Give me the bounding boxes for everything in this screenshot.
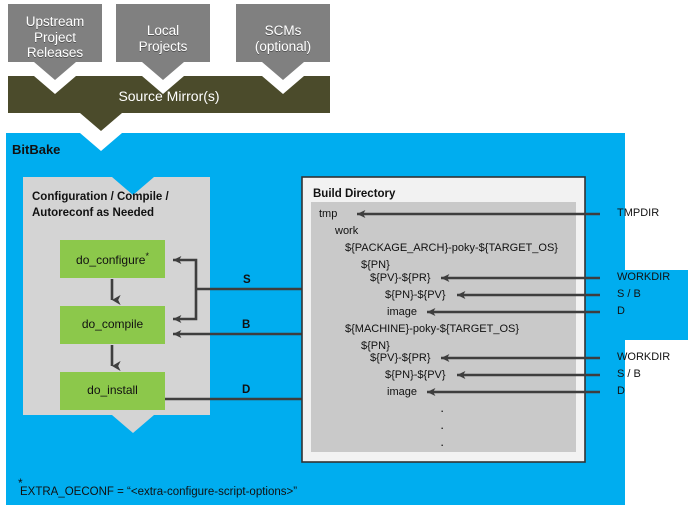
footnote-marker-do-configure: *: [145, 251, 149, 261]
tree-ellipsis-dot-2: ·: [440, 421, 444, 434]
tree-node-image-2: image: [387, 386, 417, 398]
tree-node-image-1: image: [387, 306, 417, 318]
tree-node-work: work: [335, 225, 358, 237]
tree-node-pn-1: ${PN}: [361, 259, 390, 271]
flow-label-s: S: [243, 274, 251, 286]
tree-node-package-arch: ${PACKAGE_ARCH}-poky-${TARGET_OS}: [345, 242, 558, 254]
flow-label-b: B: [242, 319, 250, 331]
footnote-text: EXTRA_OECONF = “<extra-configure-script-…: [20, 486, 297, 498]
right-label-d-1: D: [617, 305, 625, 317]
right-label-workdir-2: WORKDIR: [617, 351, 670, 363]
source-box-label-local: Local Projects: [116, 23, 210, 54]
right-label-d-2: D: [617, 385, 625, 397]
tree-node-machine: ${MACHINE}-poky-${TARGET_OS}: [345, 323, 519, 335]
source-box-label-upstream: Upstream Project Releases: [8, 14, 102, 61]
tree-node-pv-pr-2: ${PV}-${PR}: [370, 352, 431, 364]
flow-label-d: D: [242, 384, 250, 396]
tree-node-pn-2: ${PN}: [361, 340, 390, 352]
config-panel-title: Configuration / Compile / Autoreconf as …: [32, 190, 212, 222]
build-directory-title: Build Directory: [313, 188, 395, 200]
right-label-workdir-1: WORKDIR: [617, 271, 670, 283]
tree-node-pv-pr-1: ${PV}-${PR}: [370, 272, 431, 284]
tree-node-pn-pv-2: ${PN}-${PV}: [385, 369, 446, 381]
right-label-sb-1: S / B: [617, 288, 641, 300]
diagram-canvas: Upstream Project Releases Local Projects…: [0, 0, 688, 521]
tree-ellipsis-dot-1: ·: [440, 404, 444, 417]
bitbake-label: BitBake: [12, 142, 60, 157]
tree-ellipsis-dot-3: ·: [440, 438, 444, 451]
source-mirror-label: Source Mirror(s): [8, 88, 330, 104]
right-label-tmpdir: TMPDIR: [617, 207, 659, 219]
right-label-sb-2: S / B: [617, 368, 641, 380]
tree-node-tmp: tmp: [319, 208, 337, 220]
tree-node-pn-pv-1: ${PN}-${PV}: [385, 289, 446, 301]
source-box-label-scms: SCMs (optional): [236, 23, 330, 54]
